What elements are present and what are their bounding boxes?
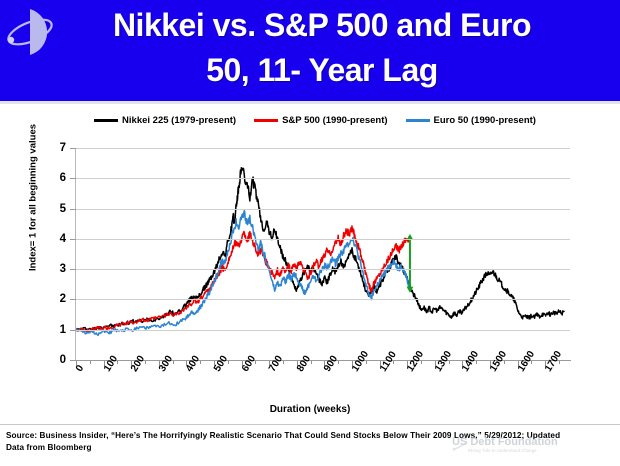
- legend-item-0: Nikkei 225 (1979-present): [94, 115, 236, 126]
- y-axis-label: Index= 1 for all beginning values: [28, 103, 39, 293]
- x-minor-tick-1150: [393, 361, 394, 364]
- x-axis-label: Duration (weeks): [0, 404, 620, 415]
- watermark-text: US Debt Foundation: [452, 436, 617, 448]
- globe-sphere-logo-icon: [4, 7, 56, 57]
- x-minor-tick-950: [338, 361, 339, 364]
- series-layer: [76, 148, 570, 360]
- legend-item-1: S&P 500 (1990-present): [254, 115, 387, 126]
- title-banner: Nikkei vs. S&P 500 and Euro 50, 11- Year…: [0, 0, 620, 101]
- slide-root: Nikkei vs. S&P 500 and Euro 50, 11- Year…: [0, 0, 620, 466]
- chart-legend: Nikkei 225 (1979-present)S&P 500 (1990-p…: [60, 109, 570, 131]
- y-tick-mark-1: [70, 330, 76, 331]
- legend-label-2: Euro 50 (1990-present): [434, 115, 536, 126]
- y-tick-mark-5: [70, 209, 76, 210]
- x-minor-tick-1250: [421, 361, 422, 364]
- x-minor-tick-1550: [504, 361, 505, 364]
- gridline-y-4: [76, 239, 570, 240]
- legend-swatch-0: [94, 119, 118, 122]
- x-minor-tick-1350: [449, 361, 450, 364]
- x-minor-tick-1450: [476, 361, 477, 364]
- y-tick-label-2: 2: [48, 294, 66, 304]
- banner-underline: [0, 101, 620, 104]
- legend-label-0: Nikkei 225 (1979-present): [122, 115, 236, 126]
- x-minor-tick-850: [311, 361, 312, 364]
- x-minor-tick-750: [283, 361, 284, 364]
- title-line-1: Nikkei vs. S&P 500 and Euro: [52, 3, 592, 48]
- y-tick-mark-7: [70, 148, 76, 149]
- gridline-y-7: [76, 148, 570, 149]
- x-minor-tick-650: [255, 361, 256, 364]
- gridline-y-1: [76, 330, 570, 331]
- x-minor-tick-50: [90, 361, 91, 364]
- series-line-1: [76, 226, 410, 332]
- chart-area: Index= 1 for all beginning values Durati…: [0, 132, 620, 422]
- series-line-0: [76, 168, 564, 331]
- legend-swatch-1: [254, 119, 278, 122]
- gridline-y-3: [76, 269, 570, 270]
- x-minor-tick-1750: [559, 361, 560, 364]
- gridline-y-6: [76, 178, 570, 179]
- x-minor-tick-1050: [366, 361, 367, 364]
- y-tick-label-7: 7: [48, 143, 66, 153]
- footer-divider: [0, 424, 620, 425]
- x-minor-tick-450: [200, 361, 201, 364]
- x-minor-tick-550: [228, 361, 229, 364]
- y-tick-mark-6: [70, 178, 76, 179]
- legend-label-1: S&P 500 (1990-present): [282, 115, 387, 126]
- y-tick-label-3: 3: [48, 264, 66, 274]
- x-tick-label-0: 0: [74, 363, 86, 374]
- gridline-y-2: [76, 299, 570, 300]
- title-line-2: 50, 11- Year Lag: [52, 48, 592, 93]
- x-minor-tick-150: [117, 361, 118, 364]
- y-tick-label-5: 5: [48, 204, 66, 214]
- y-tick-label-4: 4: [48, 234, 66, 244]
- plot-region: [76, 148, 570, 360]
- y-tick-label-6: 6: [48, 173, 66, 183]
- y-tick-mark-3: [70, 269, 76, 270]
- x-minor-tick-250: [145, 361, 146, 364]
- x-minor-tick-350: [173, 361, 174, 364]
- legend-swatch-2: [406, 119, 430, 122]
- y-tick-mark-4: [70, 239, 76, 240]
- legend-item-2: Euro 50 (1990-present): [406, 115, 536, 126]
- x-minor-tick-1650: [531, 361, 532, 364]
- y-tick-label-1: 1: [48, 325, 66, 335]
- watermark-tagline: Rising Tide to Understand Change: [468, 448, 537, 453]
- y-tick-mark-2: [70, 299, 76, 300]
- page-title: Nikkei vs. S&P 500 and Euro 50, 11- Year…: [52, 3, 592, 93]
- gridline-y-5: [76, 209, 570, 210]
- y-tick-label-0: 0: [48, 355, 66, 365]
